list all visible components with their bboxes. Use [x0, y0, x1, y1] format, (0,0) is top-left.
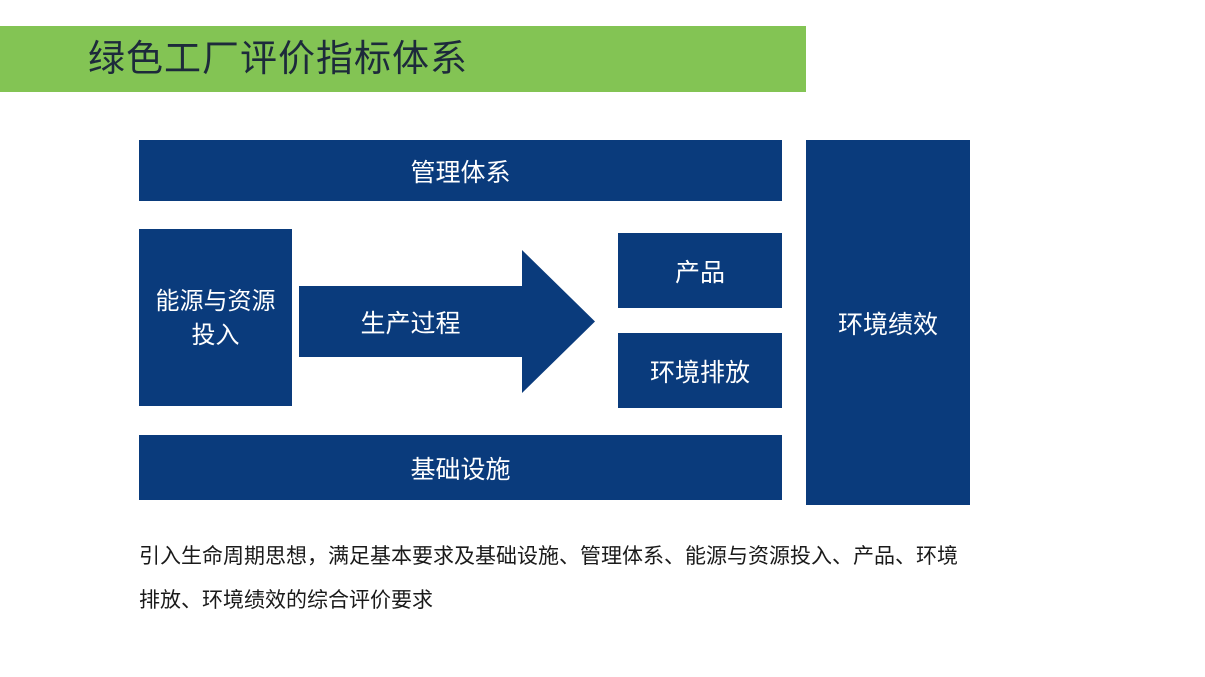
- slide-canvas: 绿色工厂评价指标体系 管理体系 能源与资源投入 生产过程 产品 环境排放 环境绩…: [0, 0, 1205, 677]
- diagram-block-product-label: 产品: [675, 253, 725, 289]
- diagram-block-emission: 环境排放: [618, 333, 782, 408]
- process-arrow: [299, 250, 595, 393]
- diagram-block-emission-label: 环境排放: [650, 353, 750, 389]
- diagram-block-management-label: 管理体系: [410, 153, 510, 189]
- diagram-block-performance-label: 环境绩效: [838, 305, 938, 341]
- diagram-block-inputs: 能源与资源投入: [139, 229, 292, 406]
- diagram-block-product: 产品: [618, 233, 782, 308]
- diagram-block-infrastructure-label: 基础设施: [410, 450, 510, 486]
- diagram-block-management: 管理体系: [139, 140, 782, 201]
- diagram-block-performance: 环境绩效: [806, 140, 970, 505]
- right-arrow-icon: [299, 250, 595, 393]
- caption-text: 引入生命周期思想，满足基本要求及基础设施、管理体系、能源与资源投入、产品、环境排…: [139, 534, 969, 622]
- diagram-block-inputs-label: 能源与资源投入: [145, 284, 286, 352]
- diagram-block-infrastructure: 基础设施: [139, 435, 782, 500]
- page-title: 绿色工厂评价指标体系: [88, 26, 468, 92]
